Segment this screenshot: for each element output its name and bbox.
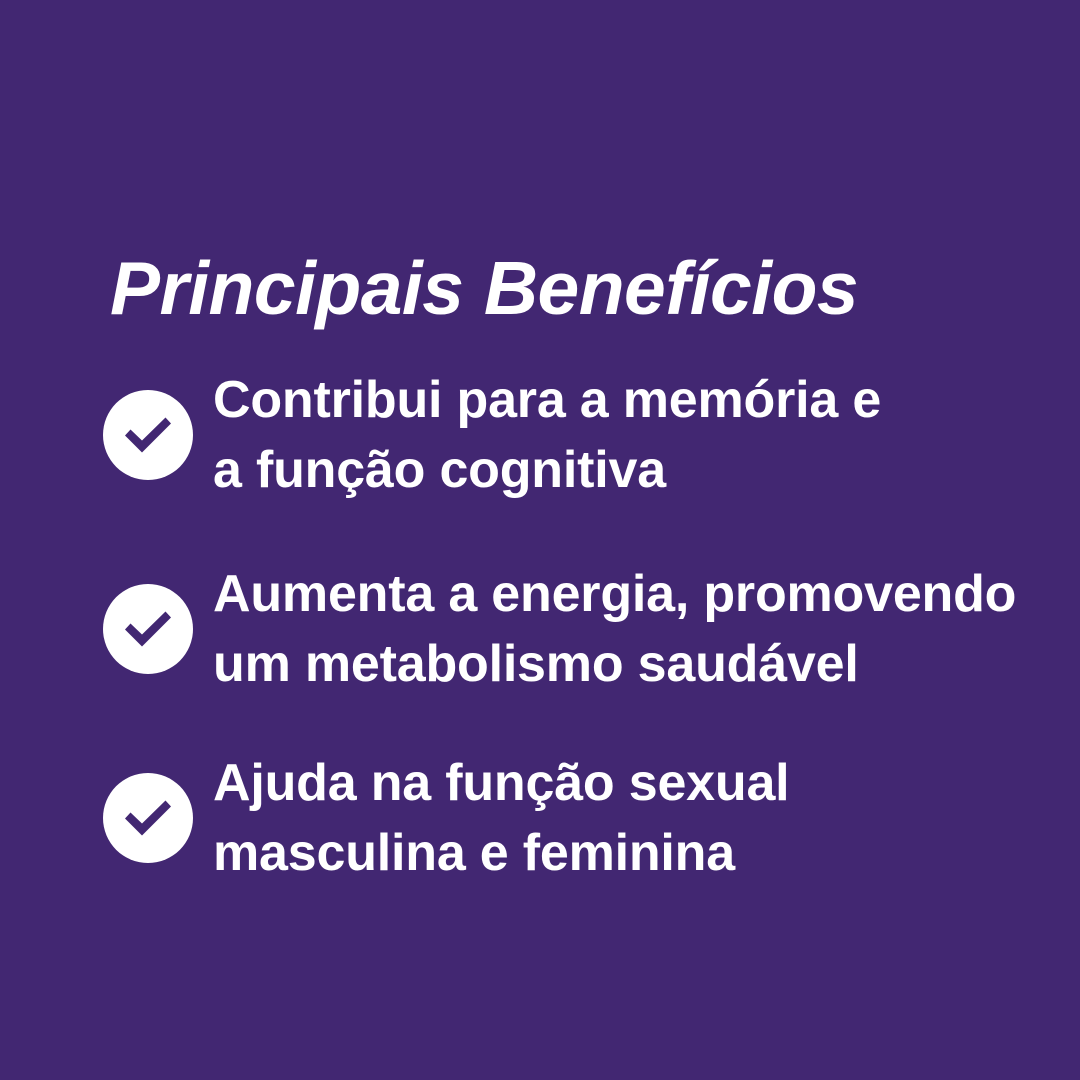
benefit-item: Ajuda na função sexual masculina e femin… [103,748,1080,888]
check-circle-icon [103,390,193,480]
benefit-item: Aumenta a energia, promovendo um metabol… [103,559,1080,699]
benefits-card: Principais Benefícios Contribui para a m… [0,0,1080,1080]
benefit-item: Contribui para a memória e a função cogn… [103,365,1080,505]
check-circle-icon [103,584,193,674]
benefit-text: Aumenta a energia, promovendo um metabol… [213,559,1080,699]
check-circle-icon [103,773,193,863]
benefit-text: Contribui para a memória e a função cogn… [213,365,1080,505]
page-title: Principais Benefícios [110,246,1010,330]
benefit-text: Ajuda na função sexual masculina e femin… [213,748,1080,888]
